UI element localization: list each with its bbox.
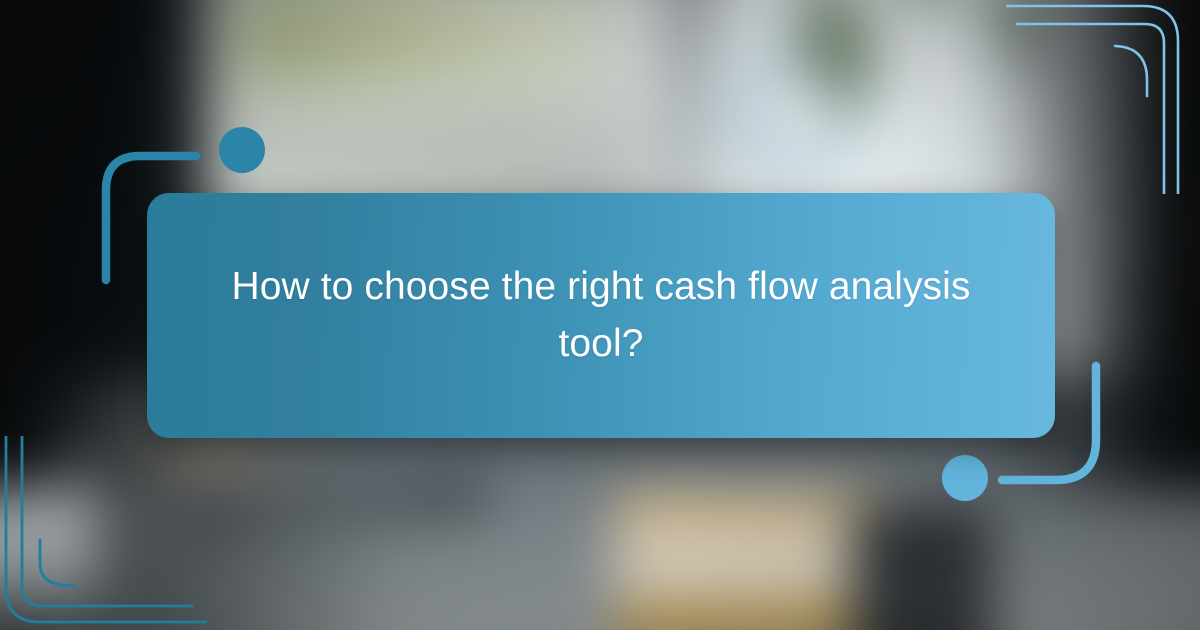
bottom-left-corner-lines (0, 436, 207, 630)
dot-icon (942, 455, 988, 501)
dot-icon (219, 127, 265, 173)
corner-line-inner-icon (1115, 46, 1147, 96)
headline-card: How to choose the right cash flow analys… (147, 193, 1055, 438)
corner-line-middle-icon (1017, 24, 1164, 194)
top-right-corner-lines (995, 0, 1200, 194)
page-title: How to choose the right cash flow analys… (205, 259, 997, 372)
corner-line-inner-icon (40, 540, 74, 586)
corner-line-outer-icon (1007, 6, 1178, 194)
social-card-canvas: How to choose the right cash flow analys… (0, 0, 1200, 630)
corner-line-outer-icon (6, 436, 207, 622)
